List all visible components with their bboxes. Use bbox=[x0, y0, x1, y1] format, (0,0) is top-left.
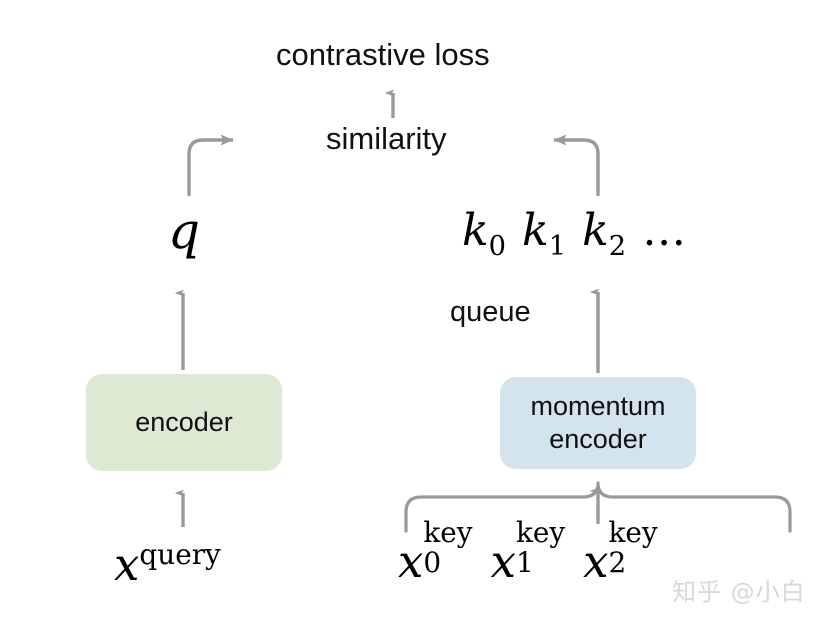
query-representation-symbol: q bbox=[168, 202, 200, 260]
contrastive-loss-label: contrastive loss bbox=[276, 38, 490, 72]
arrow-q-to-similarity bbox=[189, 140, 233, 196]
encoder-box-label: encoder bbox=[135, 406, 233, 439]
key-symbol-0: k0 bbox=[462, 205, 506, 256]
query-input-superscript: query bbox=[139, 538, 220, 571]
momentum-encoder-label-line1: momentum bbox=[530, 391, 665, 421]
momentum-encoder-box-label: momentum encoder bbox=[530, 390, 665, 456]
query-input-symbol: xquery bbox=[114, 538, 221, 591]
arrow-keys-to-similarity bbox=[554, 140, 598, 196]
queue-label: queue bbox=[450, 297, 531, 329]
key-symbol-1: k1 bbox=[522, 205, 566, 256]
momentum-encoder-box[interactable]: momentum encoder bbox=[500, 377, 696, 469]
key-input-2: xkey2 bbox=[583, 535, 658, 588]
key-symbol-2: k2 bbox=[582, 205, 626, 256]
query-symbol-q: q bbox=[168, 202, 200, 260]
figure-canvas: contrastive loss similarity queue q k0k1… bbox=[0, 0, 826, 634]
key-ellipsis: … bbox=[642, 205, 686, 256]
encoder-box[interactable]: encoder bbox=[86, 374, 282, 471]
key-input-0: xkey0 bbox=[398, 535, 473, 588]
watermark: 知乎 @小白 bbox=[672, 572, 806, 607]
momentum-encoder-label-line2: encoder bbox=[549, 424, 647, 454]
key-inputs-row: xkey0xkey1xkey2 bbox=[398, 535, 676, 593]
key-representations-row: k0k1k2… bbox=[462, 205, 686, 256]
key-input-1: xkey1 bbox=[491, 535, 566, 588]
similarity-label: similarity bbox=[326, 122, 447, 156]
